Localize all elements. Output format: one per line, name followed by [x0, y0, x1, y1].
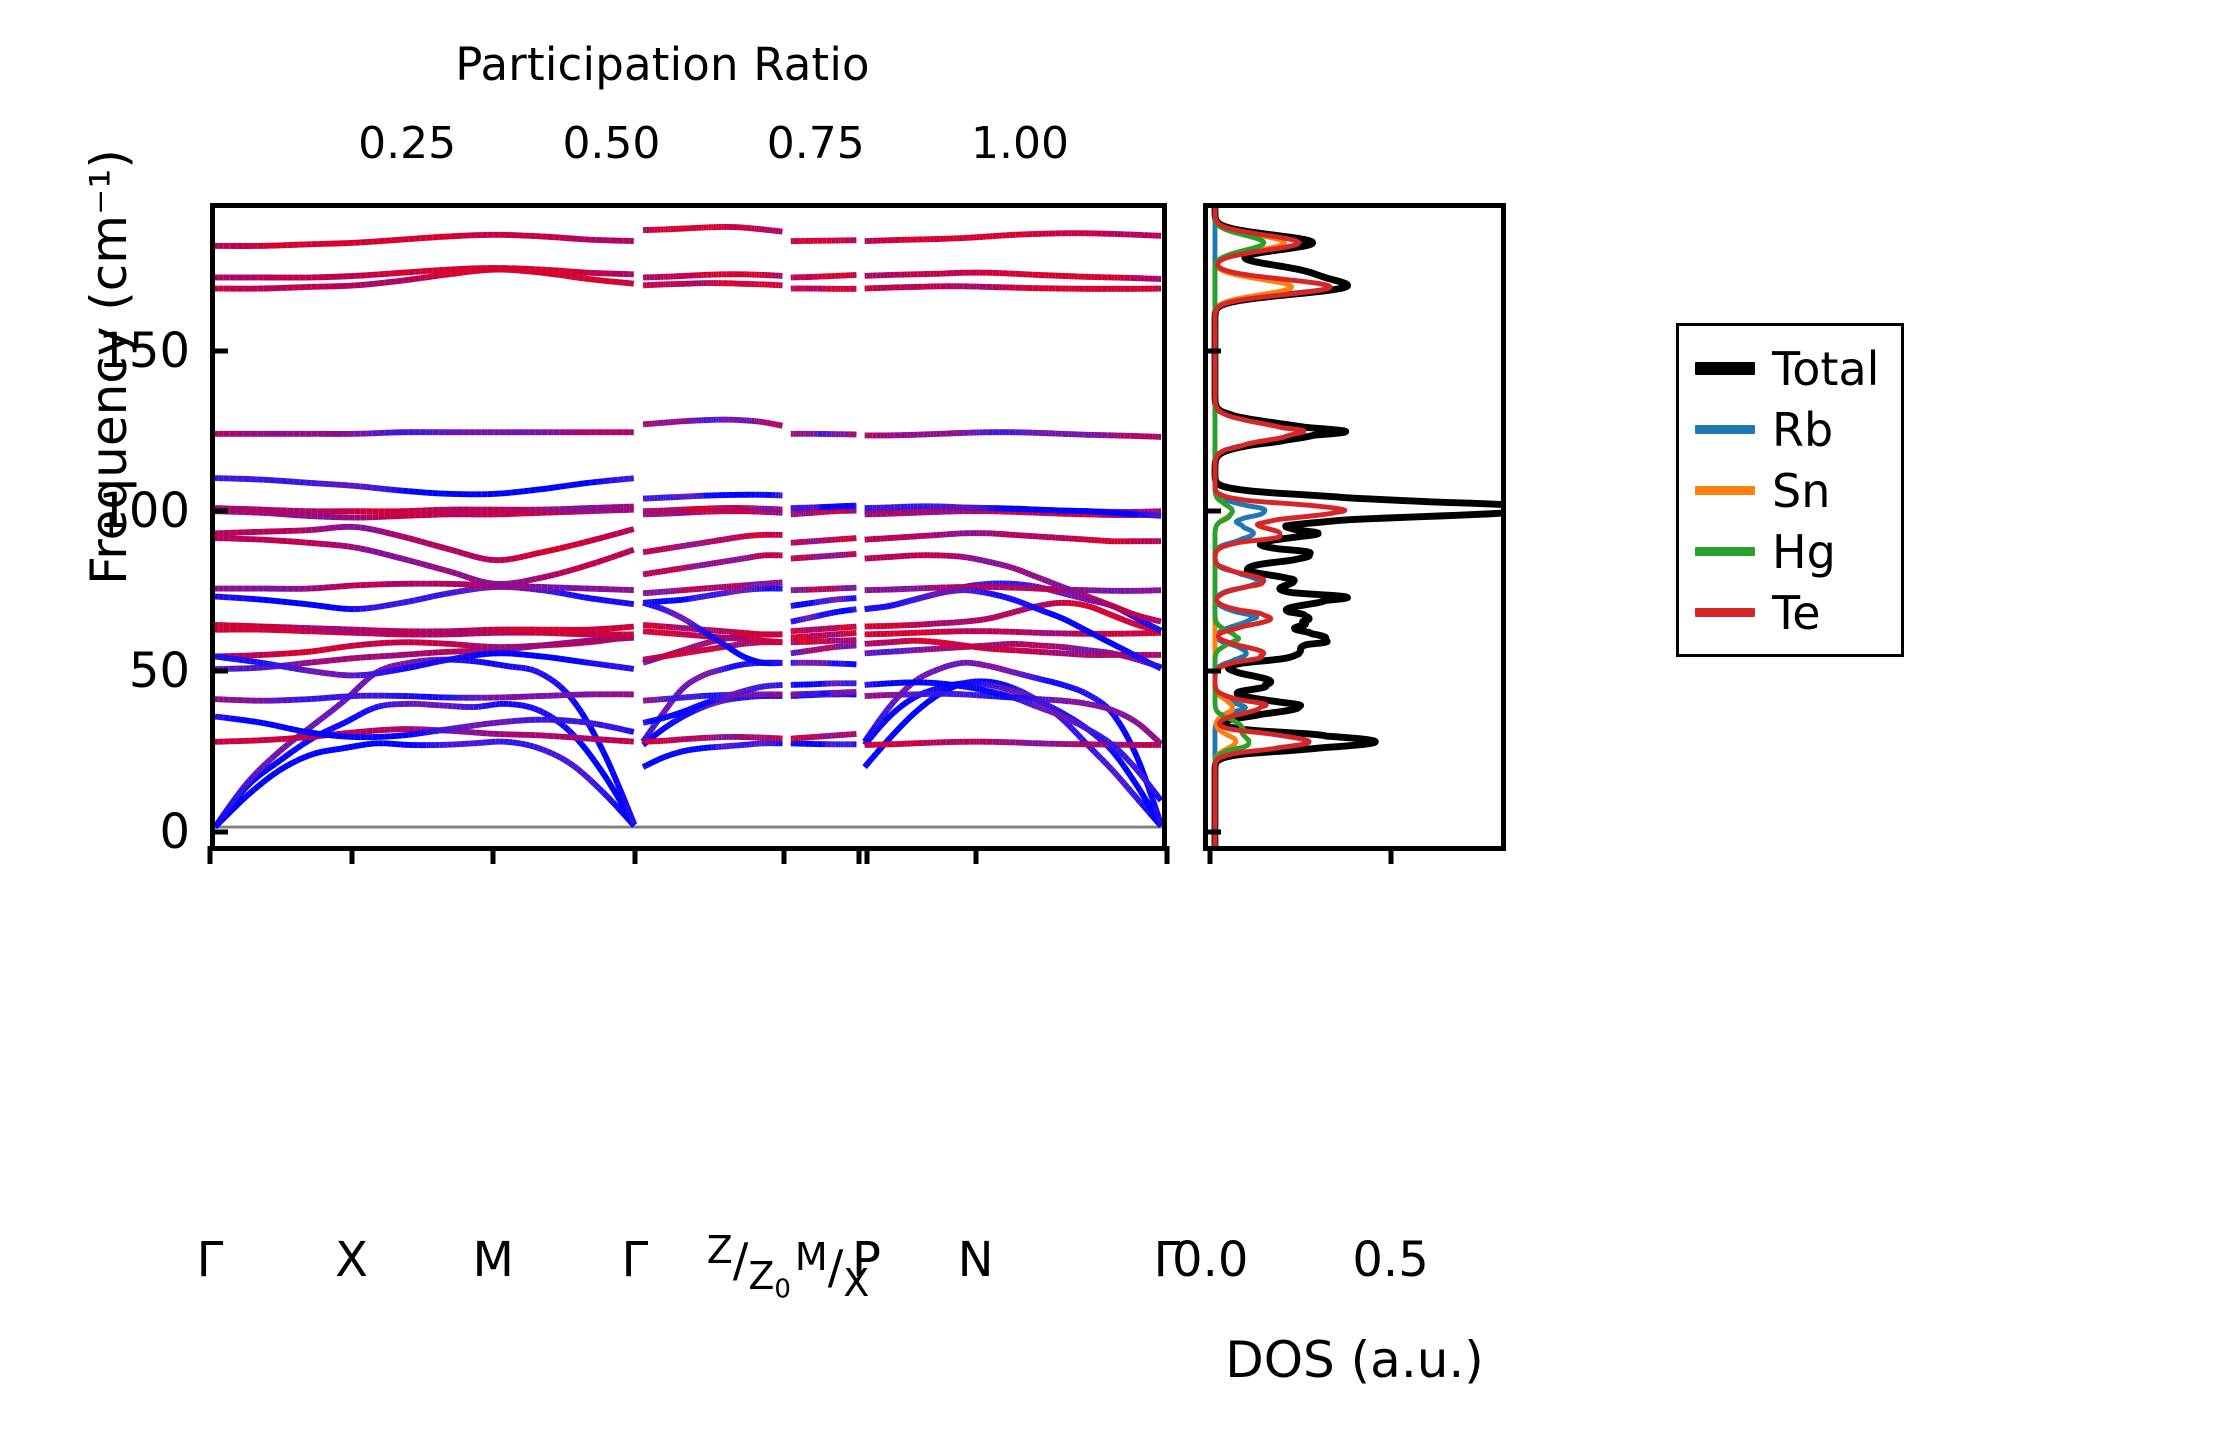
- band-segment: [1159, 817, 1161, 824]
- band-segment: [1118, 617, 1121, 618]
- band-segment: [999, 564, 1002, 565]
- band-segment: [310, 724, 314, 727]
- band-segment: [1072, 623, 1075, 625]
- band-segment: [884, 718, 888, 722]
- band-segment: [463, 726, 469, 727]
- band-segment: [980, 664, 983, 665]
- band-segment: [904, 601, 907, 602]
- band-segment: [240, 797, 245, 801]
- band-segment: [439, 275, 445, 276]
- band-segment: [1059, 684, 1062, 685]
- band-segment: [1078, 593, 1081, 594]
- band-segment: [1062, 716, 1065, 717]
- band-segment: [362, 711, 366, 713]
- band-segment: [950, 664, 953, 665]
- band-segment: [1088, 704, 1091, 705]
- band-segment: [293, 761, 297, 763]
- band-segment: [983, 665, 986, 666]
- band-segment: [739, 692, 742, 693]
- band-segment: [645, 765, 647, 766]
- band-segment: [481, 558, 487, 559]
- band-segment: [1114, 711, 1117, 712]
- band-segment: [631, 816, 634, 824]
- band-segment: [1035, 706, 1038, 707]
- colorbar-tick-labels: 0.250.500.751.00: [205, 118, 1120, 173]
- band-segment: [947, 591, 950, 592]
- band-segment: [572, 568, 578, 570]
- band-segment: [318, 529, 324, 530]
- band-segment: [624, 530, 630, 532]
- band-segment: [396, 669, 402, 670]
- band-segment: [590, 482, 597, 483]
- band-segment: [288, 667, 294, 668]
- band-segment: [306, 740, 310, 743]
- band-segment: [560, 686, 564, 690]
- band-segment: [1009, 696, 1012, 697]
- band-segment: [324, 649, 330, 650]
- band-segment: [709, 642, 712, 643]
- band-segment: [1141, 658, 1145, 660]
- band-segment: [538, 748, 542, 750]
- band-segment: [873, 753, 877, 757]
- band-segment: [1049, 681, 1052, 682]
- band-segment: [1141, 792, 1145, 798]
- band-segment: [590, 641, 597, 642]
- band-segment: [759, 662, 762, 663]
- band-segment: [547, 677, 551, 680]
- band-segment: [1128, 787, 1131, 791]
- band-segment: [312, 651, 318, 652]
- band-segment: [1091, 705, 1094, 706]
- band-segment: [1111, 605, 1114, 606]
- band-segment: [867, 735, 870, 739]
- band-segment: [1049, 711, 1052, 712]
- band-segment: [624, 283, 630, 284]
- band-segment: [676, 713, 679, 714]
- band-segment: [996, 616, 999, 617]
- band-segment: [314, 721, 318, 724]
- band-segment: [288, 602, 294, 603]
- band-segment: [372, 607, 378, 608]
- band-segment: [250, 721, 257, 722]
- band-segment: [481, 581, 487, 582]
- band-segment: [1124, 767, 1127, 772]
- band-segment: [668, 703, 671, 706]
- band-segment: [584, 483, 590, 484]
- band-segment: [511, 558, 517, 559]
- band-segment: [1039, 609, 1042, 610]
- band-segment: [481, 654, 487, 655]
- band-segment: [230, 718, 237, 719]
- band-segment: [409, 279, 415, 280]
- band-segment: [678, 752, 681, 753]
- band-segment: [384, 532, 390, 534]
- band-segment: [706, 702, 709, 703]
- band-segment: [613, 772, 618, 784]
- band-segment: [1026, 573, 1029, 574]
- band-segment: [331, 727, 335, 729]
- band-segment: [218, 818, 222, 823]
- band-segment: [554, 592, 560, 593]
- band-segment: [967, 687, 970, 688]
- band-segment: [403, 668, 409, 669]
- band-segment: [548, 273, 554, 274]
- band-segment: [348, 546, 354, 547]
- band-segment: [1159, 742, 1161, 744]
- band-segment: [624, 551, 630, 553]
- band-segment: [403, 735, 409, 736]
- band-segment: [1098, 609, 1101, 610]
- band-segment: [1059, 585, 1062, 586]
- band-segment: [1137, 615, 1140, 616]
- band-segment: [967, 557, 970, 558]
- band-segment: [1128, 612, 1131, 613]
- band-segment: [1006, 670, 1009, 671]
- band-segment: [415, 599, 421, 600]
- band-segment: [1052, 707, 1055, 709]
- band-segment: [907, 700, 910, 702]
- band-segment: [921, 705, 924, 708]
- colorbar-title: Participation Ratio: [305, 40, 1020, 90]
- band-segment: [1131, 776, 1134, 781]
- band-segment: [1075, 625, 1078, 627]
- band-segment: [433, 595, 439, 596]
- band-segment: [1095, 752, 1098, 755]
- band-segment: [683, 649, 686, 650]
- band-segment: [726, 668, 729, 669]
- band-segment: [990, 594, 993, 595]
- band-segment: [699, 705, 702, 706]
- band-segment: [1134, 781, 1137, 786]
- band-segment: [590, 279, 597, 280]
- band-segment: [724, 668, 727, 669]
- band-segment: [1095, 608, 1098, 609]
- band-segment: [953, 664, 956, 665]
- band-segment: [1137, 786, 1140, 791]
- band-segment: [729, 695, 732, 696]
- band-segment: [1022, 701, 1025, 702]
- band-segment: [572, 721, 578, 722]
- band-segment: [937, 669, 940, 670]
- band-segment: [258, 767, 262, 771]
- band-segment: [1131, 623, 1134, 624]
- band-segment: [904, 702, 907, 704]
- band-segment: [275, 761, 279, 764]
- band-segment: [937, 688, 940, 689]
- band-segment: [336, 545, 342, 546]
- band-segment: [439, 594, 445, 595]
- band-segment: [372, 283, 378, 284]
- band-segment: [405, 663, 409, 664]
- band-segment: [378, 606, 384, 607]
- band-segment: [243, 660, 250, 661]
- band-segment: [1026, 604, 1029, 605]
- band-segment: [673, 753, 676, 754]
- band-segment: [921, 676, 924, 678]
- band-segment: [629, 604, 633, 605]
- band-segment: [914, 711, 917, 714]
- band-segment: [1009, 690, 1012, 691]
- band-segment: [678, 713, 681, 714]
- band-segment: [357, 684, 361, 688]
- band-segment: [340, 748, 344, 749]
- band-segment: [577, 769, 581, 773]
- band-segment: [344, 747, 348, 748]
- band-segment: [324, 661, 330, 662]
- band-segment: [306, 651, 312, 652]
- band-segment: [655, 719, 658, 720]
- band-segment: [1075, 722, 1078, 724]
- band-segment: [526, 668, 530, 669]
- band-segment: [603, 773, 608, 780]
- band-segment: [973, 688, 976, 689]
- band-segment: [372, 529, 378, 530]
- band-segment: [701, 630, 704, 632]
- band-segment: [1035, 608, 1038, 609]
- band-segment: [584, 642, 590, 643]
- band-segment: [276, 601, 282, 602]
- band-segment: [513, 742, 517, 743]
- band-segment: [1124, 783, 1127, 787]
- band-segment: [943, 666, 946, 667]
- band-segment: [427, 565, 433, 567]
- band-segment: [451, 273, 457, 274]
- band-segment: [666, 726, 669, 728]
- band-segment: [294, 603, 300, 604]
- band-segment: [511, 582, 517, 583]
- band-segment: [378, 672, 384, 673]
- band-segment: [564, 726, 568, 730]
- band-segment: [1078, 597, 1081, 598]
- band-segment: [348, 732, 354, 733]
- band-segment: [275, 751, 279, 755]
- band-segment: [421, 541, 427, 543]
- band-segment: [647, 733, 649, 737]
- band-segment: [584, 597, 590, 598]
- band-segment: [353, 746, 357, 747]
- band-segment: [1032, 677, 1035, 678]
- band-segment: [499, 722, 505, 723]
- band-segment: [463, 576, 469, 578]
- band-segment: [1124, 756, 1127, 759]
- band-segment: [652, 605, 655, 606]
- band-segment: [526, 706, 530, 707]
- band-segment: [604, 640, 611, 641]
- band-segment: [590, 663, 597, 664]
- band-segment: [276, 726, 282, 727]
- band-segment: [1003, 597, 1006, 598]
- band-segment: [1026, 702, 1029, 703]
- band-segment: [551, 680, 555, 683]
- band-segment: [284, 744, 288, 748]
- band-segment: [354, 658, 360, 659]
- band-segment: [451, 658, 457, 659]
- band-segment: [330, 545, 336, 546]
- band-segment: [649, 729, 652, 733]
- band-segment: [1016, 673, 1019, 674]
- band-segment: [1006, 566, 1009, 567]
- colorbar-tick-label: 1.00: [971, 118, 1069, 169]
- band-segment: [694, 625, 697, 627]
- band-segment: [1039, 605, 1042, 606]
- band-segment: [1148, 732, 1152, 735]
- band-segment: [884, 606, 888, 607]
- band-segment: [323, 751, 327, 752]
- band-segment: [1016, 692, 1019, 693]
- band-segment: [219, 657, 224, 658]
- band-segment: [288, 728, 294, 729]
- band-segment: [403, 602, 409, 603]
- band-segment: [445, 548, 451, 550]
- band-segment: [1045, 710, 1048, 711]
- band-segment: [649, 763, 652, 764]
- band-segment: [1111, 744, 1114, 747]
- band-segment: [282, 727, 288, 728]
- band-segment: [1091, 731, 1094, 733]
- band-segment: [451, 728, 457, 729]
- band-segment: [548, 591, 554, 592]
- band-segment: [888, 715, 891, 718]
- band-segment: [1104, 640, 1107, 642]
- band-segment: [1019, 570, 1022, 571]
- band-segment: [300, 669, 306, 670]
- band-segment: [439, 660, 445, 661]
- band-segment: [301, 757, 305, 759]
- band-segment: [999, 615, 1002, 616]
- band-segment: [475, 724, 481, 725]
- band-segment: [611, 628, 618, 629]
- band-segment: [1108, 641, 1111, 643]
- band-segment: [676, 752, 679, 753]
- band-segment: [617, 532, 623, 534]
- band-segment: [1052, 712, 1055, 713]
- band-segment: [578, 643, 584, 644]
- band-segment: [1019, 674, 1022, 675]
- band-segment: [590, 598, 597, 599]
- band-segment: [526, 745, 530, 746]
- band-segment: [597, 599, 604, 600]
- band-segment: [595, 784, 599, 788]
- band-segment: [999, 694, 1002, 695]
- band-segment: [349, 747, 353, 748]
- band-segment: [372, 488, 378, 489]
- band-segment: [1055, 615, 1058, 616]
- band-segment: [711, 641, 714, 642]
- band-segment: [582, 744, 586, 749]
- band-segment: [469, 725, 475, 726]
- band-segment: [973, 558, 976, 559]
- band-segment: [649, 605, 652, 606]
- band-segment: [409, 491, 415, 492]
- band-segment: [1012, 691, 1015, 692]
- band-segment: [709, 672, 712, 673]
- band-segment: [415, 278, 421, 279]
- band-segment: [267, 767, 271, 770]
- band-segment: [1082, 691, 1085, 693]
- band-segment: [384, 282, 390, 283]
- band-segment: [736, 692, 739, 693]
- band-segment: [505, 583, 511, 584]
- band-segment: [1049, 613, 1052, 614]
- band-segment: [390, 556, 396, 558]
- band-segment: [773, 424, 776, 425]
- band-segment: [1019, 693, 1022, 694]
- band-segment: [706, 633, 709, 635]
- band-segment: [548, 657, 554, 658]
- band-segment: [1012, 697, 1015, 698]
- band-segment: [1118, 608, 1121, 609]
- band-segment: [1111, 769, 1114, 773]
- band-segment: [1145, 618, 1149, 619]
- band-segment: [719, 698, 722, 699]
- band-segment: [663, 717, 666, 718]
- band-segment: [689, 622, 692, 624]
- band-segment: [547, 714, 551, 717]
- band-segment: [366, 731, 372, 732]
- band-segment: [387, 666, 391, 667]
- band-segment: [726, 696, 729, 697]
- band-segment: [282, 602, 288, 603]
- band-segment: [482, 662, 486, 663]
- band-segment: [505, 493, 511, 494]
- band-segment: [629, 731, 633, 732]
- band-segment: [318, 672, 324, 673]
- band-segment: [300, 663, 306, 664]
- band-segment: [1121, 762, 1124, 767]
- band-segment: [683, 619, 686, 620]
- band-segment: [230, 798, 235, 805]
- band-segment: [1006, 695, 1009, 696]
- band-segment: [661, 718, 664, 719]
- band-segment: [1019, 602, 1022, 603]
- band-segment: [560, 572, 566, 574]
- band-segment: [566, 570, 572, 572]
- band-segment: [530, 669, 534, 670]
- band-segment: [475, 588, 481, 589]
- band-segment: [678, 690, 681, 693]
- band-segment: [921, 597, 924, 598]
- band-segment: [1062, 587, 1065, 588]
- band-segment: [1156, 628, 1159, 630]
- band-segment: [403, 491, 409, 492]
- band-segment: [894, 709, 897, 712]
- band-segment: [1159, 797, 1161, 800]
- band-segment: [898, 707, 901, 710]
- band-segment: [983, 690, 986, 691]
- band-segment: [599, 767, 603, 773]
- band-segment: [327, 711, 331, 714]
- band-segment: [970, 558, 973, 559]
- band-segment: [487, 663, 491, 664]
- band-segment: [597, 481, 604, 482]
- band-segment: [1118, 758, 1121, 762]
- band-segment: [421, 598, 427, 599]
- band-segment: [378, 488, 384, 489]
- band-segment: [1156, 666, 1159, 668]
- band-segment: [749, 689, 752, 690]
- band-segment: [604, 665, 611, 666]
- band-segment: [288, 751, 292, 754]
- band-segment: [451, 550, 457, 552]
- band-segment: [683, 715, 686, 716]
- band-segment: [384, 605, 390, 606]
- band-segment: [924, 674, 927, 676]
- band-segment: [1068, 687, 1071, 688]
- band-segment: [560, 723, 564, 726]
- band-segment: [627, 807, 631, 817]
- band-segment: [608, 797, 613, 802]
- band-segment: [806, 618, 809, 619]
